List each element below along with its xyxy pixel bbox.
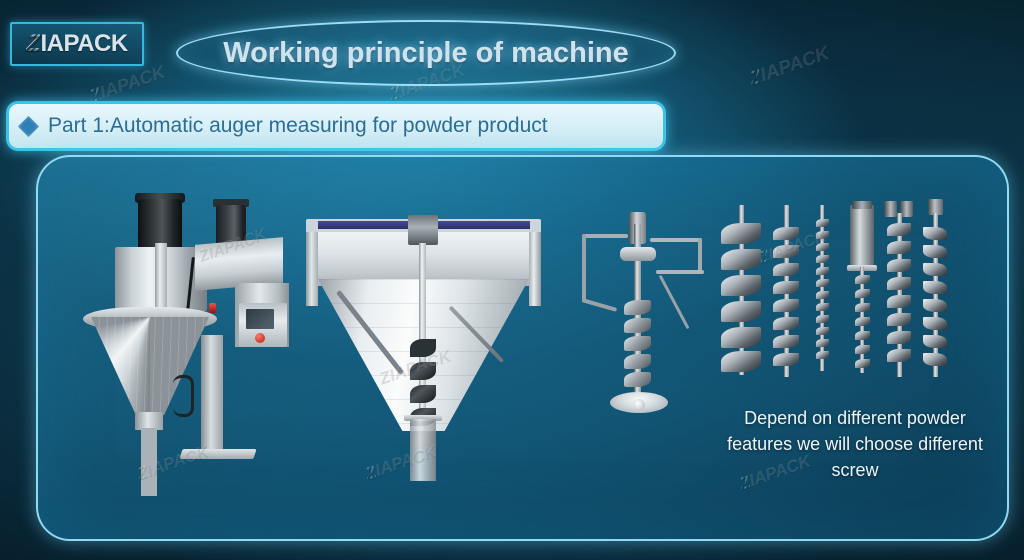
paddle-arm-right-vertical — [698, 238, 702, 274]
screw-flight — [887, 241, 911, 254]
auger-flight — [410, 339, 436, 357]
screw-flight — [816, 219, 829, 227]
auger-flight — [624, 300, 651, 315]
agitator-hub — [620, 247, 656, 261]
screw-flight — [721, 327, 761, 348]
screw-flight — [923, 353, 947, 366]
screw-flight — [816, 267, 829, 275]
figure-hopper-cutaway — [298, 219, 548, 489]
screw-item — [720, 205, 762, 375]
screw-flight — [887, 277, 911, 290]
screw-flight — [923, 227, 947, 240]
screw-flight — [923, 263, 947, 276]
screw-flight — [855, 359, 870, 368]
screw-flight — [773, 227, 799, 240]
caption-line-3: screw — [710, 457, 1000, 483]
screw-mount-bracket — [900, 201, 913, 217]
screw-flight — [887, 259, 911, 272]
paddle-arm-left-vertical — [582, 234, 586, 302]
emergency-stop-button[interactable] — [255, 333, 265, 343]
agitator-disc-hub — [633, 399, 645, 411]
screw-flight — [816, 303, 829, 311]
screw-item — [848, 205, 876, 373]
content-panel: ZIAPACK ZIAPACK ZIAPACK ZIAPACK ZIAPACK … — [36, 155, 1009, 541]
screw-flight — [816, 231, 829, 239]
screw-flight — [773, 245, 799, 258]
screw-flight — [721, 223, 761, 244]
auger-flight — [624, 372, 651, 387]
paddle-arm-top-left — [582, 234, 628, 238]
screw-item — [922, 205, 948, 377]
handle — [173, 375, 194, 417]
paddle-arm-bottom-left — [581, 298, 617, 312]
screw-flight — [855, 289, 870, 298]
screw-flight — [816, 255, 829, 263]
paddle-arm-bottom-right — [656, 270, 704, 274]
screw-flight — [816, 291, 829, 299]
hopper-wall-right — [529, 232, 541, 306]
discharge-tube — [141, 428, 157, 496]
screw-flight — [923, 299, 947, 312]
screw-flight — [923, 335, 947, 348]
screw-flight — [816, 243, 829, 251]
logo-rest: IAPACK — [40, 30, 127, 57]
screw-flight — [721, 351, 761, 372]
figure-screw-set — [714, 205, 949, 395]
auger-flight — [624, 318, 651, 333]
screw-flight — [773, 353, 799, 366]
screw-flight — [887, 295, 911, 308]
screw-flight — [855, 345, 870, 354]
screw-flight — [721, 275, 761, 296]
support-column — [201, 335, 223, 451]
auger-flight — [624, 354, 651, 369]
base-plate — [179, 449, 256, 459]
screw-flight — [855, 331, 870, 340]
screw-flight — [773, 299, 799, 312]
logo-z-glyph: Z — [26, 30, 40, 58]
figure-agitator-assembly — [576, 212, 706, 432]
caption-line-1: Depend on different powder — [710, 405, 1000, 431]
screw-item — [772, 205, 800, 377]
paddle-arm-diagonal — [659, 275, 690, 329]
brand-logo: ZIAPACK — [10, 22, 144, 66]
screw-flight — [773, 263, 799, 276]
screw-flight — [887, 223, 911, 236]
auger-flight — [410, 385, 436, 403]
screw-flight — [816, 279, 829, 287]
screw-item — [814, 205, 830, 371]
screw-flight — [887, 331, 911, 344]
brand-logo-text: ZIAPACK — [26, 30, 127, 58]
screw-flight — [855, 275, 870, 284]
diamond-bullet-icon — [18, 115, 39, 136]
screw-flight — [721, 301, 761, 322]
auger-flight — [624, 336, 651, 351]
indicator-light — [209, 303, 216, 313]
screw-flight — [816, 315, 829, 323]
screw-flight — [773, 335, 799, 348]
screw-flight — [773, 281, 799, 294]
discharge-outlet — [410, 419, 436, 481]
screw-flight — [816, 327, 829, 335]
screw-barrel-cap — [852, 201, 872, 209]
screw-flight — [887, 349, 911, 362]
section-subtitle-bar: Part 1:Automatic auger measuring for pow… — [6, 101, 666, 151]
feed-pipe — [155, 243, 167, 307]
screw-flight — [816, 339, 829, 347]
auger-flight — [410, 362, 436, 380]
screw-flight — [923, 317, 947, 330]
caption-line-2: features we will choose different — [710, 431, 1000, 457]
screw-mount-bracket — [884, 201, 897, 217]
figure-auger-filling-machine — [83, 197, 298, 497]
screw-flight — [855, 303, 870, 312]
screw-flight — [923, 281, 947, 294]
page-title: Working principle of machine — [223, 37, 629, 70]
figure-caption: Depend on different powder features we w… — [710, 405, 1000, 483]
screw-flight — [816, 351, 829, 359]
screw-flight — [773, 317, 799, 330]
screw-flight — [923, 245, 947, 258]
screw-barrel — [850, 205, 874, 267]
screw-flight — [855, 317, 870, 326]
screw-flight — [721, 249, 761, 270]
screw-flight — [887, 313, 911, 326]
hmi-screen-icon — [246, 309, 274, 329]
gearbox — [408, 215, 438, 245]
screw-item — [886, 205, 912, 377]
watermark-logo: ZIAPACK — [747, 43, 833, 91]
slide-root: ZIAPACK ZIAPACK ZIAPACK ZIAPACK Working … — [0, 0, 1024, 560]
title-oval-frame: Working principle of machine — [176, 20, 676, 86]
hopper-wall-left — [306, 232, 318, 306]
paddle-arm-top-right — [650, 238, 702, 242]
section-subtitle-text: Part 1:Automatic auger measuring for pow… — [48, 114, 548, 138]
